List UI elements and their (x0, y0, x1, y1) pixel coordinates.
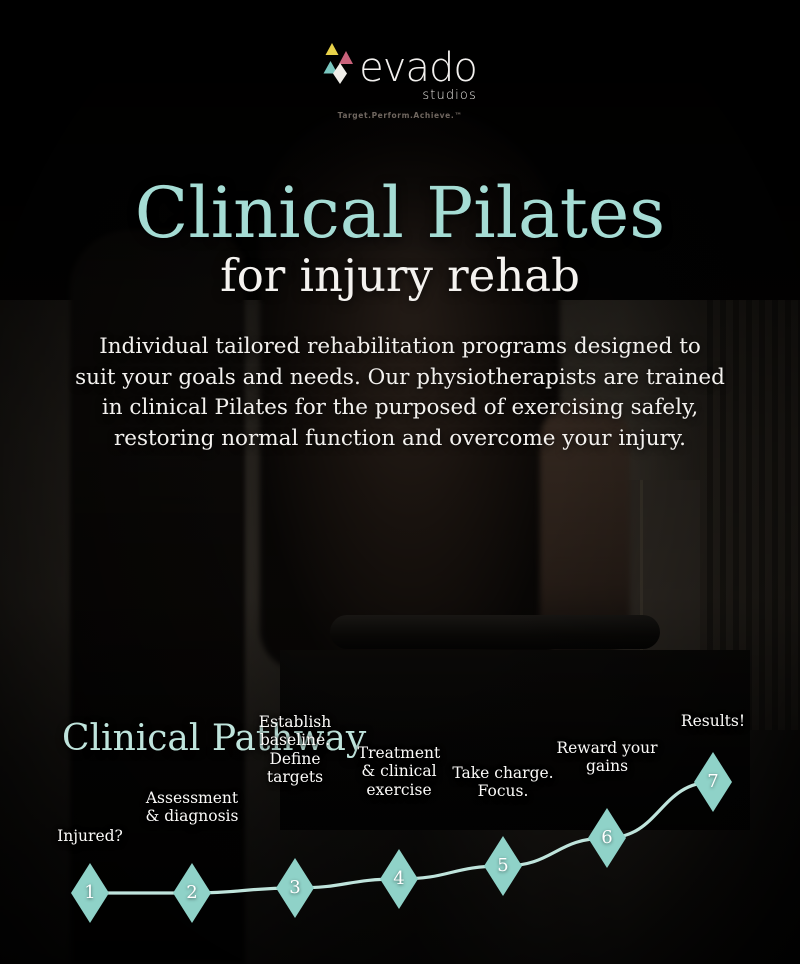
pathway-step-label-line: Assessment (112, 789, 272, 807)
headline-secondary: for injury rehab (0, 250, 800, 302)
pathway-step-marker-4[interactable] (380, 849, 418, 909)
brand-name: evado (359, 50, 477, 87)
intro-line-4: restoring normal function and overcome y… (60, 424, 740, 455)
pathway-step-label-line: gains (527, 757, 687, 775)
pathway-step-marker-2[interactable] (173, 863, 211, 923)
brand-wordmark: evado studios (359, 38, 477, 105)
pathway-step-label-1: Injured? (10, 827, 170, 845)
pathway-step-label-line: Focus. (423, 782, 583, 800)
pathway-step-label-line: Treatment (319, 744, 479, 762)
poster-content: evado studios Target.Perform.Achieve.™ C… (0, 0, 800, 964)
pathway-step-marker-3[interactable] (276, 858, 314, 918)
pathway-step-marker-1[interactable] (71, 863, 109, 923)
intro-line-1: Individual tailored rehabilitation progr… (60, 332, 740, 363)
pathway-step-label-line: & diagnosis (112, 807, 272, 825)
headline-primary: Clinical Pilates (0, 178, 800, 248)
pathway-step-marker-6[interactable] (588, 808, 626, 868)
pathway-step-label-line: Reward your (527, 739, 687, 757)
poster-canvas: evado studios Target.Perform.Achieve.™ C… (0, 0, 800, 964)
pathway-step-marker-5[interactable] (484, 836, 522, 896)
brand-logo: evado studios Target.Perform.Achieve.™ (0, 38, 800, 120)
intro-line-3: in clinical Pilates for the purposed of … (60, 393, 740, 424)
pathway-step-label-line: Results! (633, 712, 793, 730)
brand-tagline: Target.Perform.Achieve.™ (338, 111, 463, 120)
pathway-step-label-6: Reward yourgains (527, 739, 687, 776)
brand-logo-row: evado studios (323, 38, 477, 105)
pathway-step-label-line: Establish (215, 713, 375, 731)
brand-sub: studios (422, 87, 476, 105)
clinical-pathway: 1Injured?2Assessment& diagnosis3Establis… (0, 700, 800, 964)
pathway-step-label-2: Assessment& diagnosis (112, 789, 272, 826)
intro-paragraph: Individual tailored rehabilitation progr… (60, 332, 740, 454)
pathway-step-label-line: Injured? (10, 827, 170, 845)
evado-logo-mark-icon (323, 40, 357, 88)
page-title: Clinical Pilates for injury rehab (0, 178, 800, 302)
intro-line-2: suit your goals and needs. Our physiothe… (60, 363, 740, 394)
pathway-step-marker-7[interactable] (694, 752, 732, 812)
pathway-step-label-7: Results! (633, 712, 793, 730)
